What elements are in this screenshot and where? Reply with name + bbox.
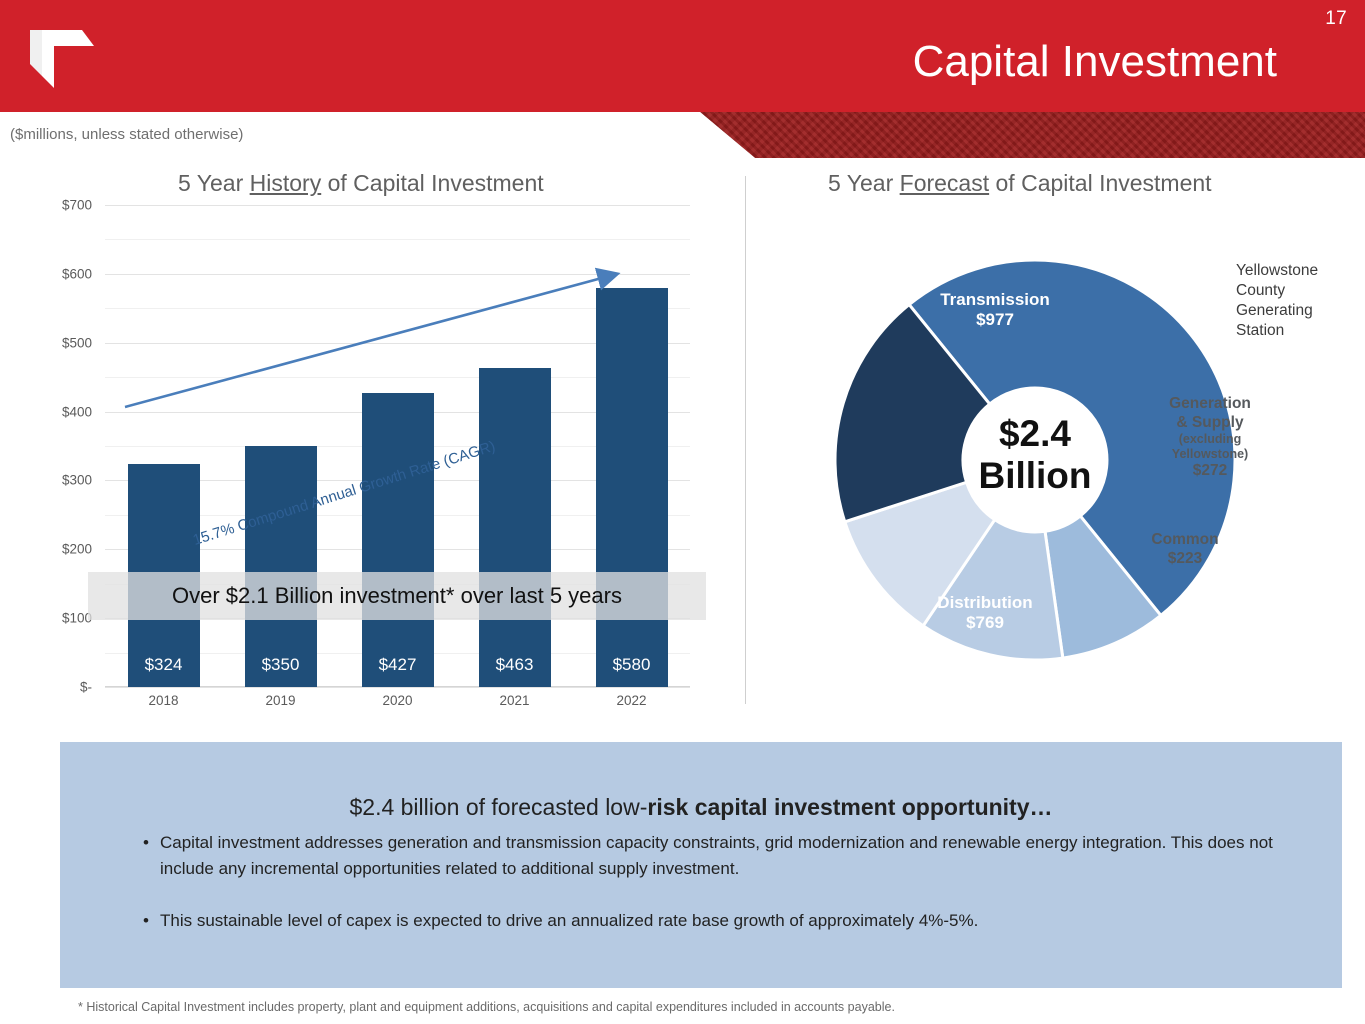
summary-heading: $2.4 billion of forecasted low-risk capi… bbox=[60, 794, 1342, 821]
history-title-underlined: History bbox=[250, 170, 322, 196]
x-axis-tick: 2019 bbox=[245, 693, 317, 708]
generation-sub: (excluding Yellowstone) bbox=[1145, 432, 1275, 462]
yellowstone-line1: Yellowstone bbox=[1236, 262, 1318, 279]
x-axis-tick: 2018 bbox=[128, 693, 200, 708]
bullet-text-2: This sustainable level of capex is expec… bbox=[160, 908, 1322, 934]
donut-label-common: Common $223 bbox=[1125, 531, 1245, 568]
y-axis-tick: $500 bbox=[32, 335, 92, 350]
bar bbox=[362, 393, 434, 687]
forecast-chart-title: 5 Year Forecast of Capital Investment bbox=[828, 170, 1212, 197]
summary-bullet-1: • Capital investment addresses generatio… bbox=[132, 830, 1322, 882]
yellowstone-line2: County bbox=[1236, 282, 1285, 299]
company-logo-icon bbox=[24, 24, 96, 94]
panel-divider bbox=[745, 176, 746, 704]
y-axis-tick: $600 bbox=[32, 266, 92, 281]
gridline bbox=[105, 274, 690, 275]
bar-value-label: $350 bbox=[245, 655, 317, 675]
donut-label-generation-supply: Generation & Supply (excluding Yellowsto… bbox=[1145, 395, 1275, 481]
y-axis-tick: $- bbox=[32, 680, 92, 695]
units-note: ($millions, unless stated otherwise) bbox=[10, 126, 243, 143]
bar bbox=[245, 446, 317, 687]
summary-heading-plain: $2.4 billion of forecasted low- bbox=[349, 794, 647, 820]
bar-value-label: $580 bbox=[596, 655, 668, 675]
history-callout-text: Over $2.1 Billion investment* over last … bbox=[172, 583, 622, 609]
bullet-text-1: Capital investment addresses generation … bbox=[160, 830, 1322, 882]
common-value: $223 bbox=[1125, 550, 1245, 569]
gridline bbox=[105, 239, 690, 240]
slide-header: Capital Investment 17 bbox=[0, 0, 1365, 112]
donut-label-yellowstone: Yellowstone County Generating Station bbox=[1236, 261, 1365, 341]
bullet-marker-1: • bbox=[132, 830, 160, 882]
donut-center-amount: $2.4 bbox=[945, 413, 1125, 455]
y-axis-tick: $400 bbox=[32, 404, 92, 419]
history-title-suffix: of Capital Investment bbox=[321, 170, 543, 196]
distribution-name: Distribution bbox=[880, 593, 1090, 613]
y-axis-tick: $200 bbox=[32, 542, 92, 557]
bullet-marker-2: • bbox=[132, 908, 160, 934]
donut-center-unit: Billion bbox=[945, 455, 1125, 497]
history-chart-title: 5 Year History of Capital Investment bbox=[178, 170, 544, 197]
bar-value-label: $324 bbox=[128, 655, 200, 675]
y-axis-tick: $700 bbox=[32, 198, 92, 213]
gridline bbox=[105, 205, 690, 206]
bar-value-label: $427 bbox=[362, 655, 434, 675]
footnote: * Historical Capital Investment includes… bbox=[78, 1000, 895, 1014]
x-axis-tick: 2022 bbox=[596, 693, 668, 708]
history-bar-chart: $700$600$500$400$300$200$100$- $3242018$… bbox=[0, 205, 730, 725]
yellowstone-line4: Station bbox=[1236, 322, 1284, 339]
forecast-title-prefix: 5 Year bbox=[828, 170, 900, 196]
x-axis-tick: 2020 bbox=[362, 693, 434, 708]
donut-label-transmission: Transmission $977 bbox=[890, 290, 1100, 331]
bar bbox=[479, 368, 551, 687]
history-callout-box: Over $2.1 Billion investment* over last … bbox=[88, 572, 706, 620]
summary-heading-bold: risk capital investment opportunity… bbox=[647, 794, 1052, 820]
forecast-donut-chart: $2.4 Billion Transmission $977 Distribut… bbox=[770, 195, 1365, 725]
summary-bullet-2: • This sustainable level of capex is exp… bbox=[132, 908, 1322, 934]
gridline bbox=[105, 687, 690, 688]
summary-box: $2.4 billion of forecasted low-risk capi… bbox=[60, 742, 1342, 988]
bar-value-label: $463 bbox=[479, 655, 551, 675]
generation-value: $272 bbox=[1145, 462, 1275, 481]
y-axis-tick: $300 bbox=[32, 473, 92, 488]
y-axis-labels: $700$600$500$400$300$200$100$- bbox=[30, 205, 92, 687]
transmission-name: Transmission bbox=[890, 290, 1100, 310]
donut-label-distribution: Distribution $769 bbox=[880, 593, 1090, 634]
generation-line2: & Supply bbox=[1145, 414, 1275, 433]
page-number: 17 bbox=[1325, 8, 1347, 30]
yellowstone-line3: Generating bbox=[1236, 302, 1313, 319]
forecast-title-suffix: of Capital Investment bbox=[989, 170, 1211, 196]
page-title: Capital Investment bbox=[913, 36, 1277, 88]
x-axis-tick: 2021 bbox=[479, 693, 551, 708]
forecast-title-underlined: Forecast bbox=[900, 170, 989, 196]
history-title-prefix: 5 Year bbox=[178, 170, 250, 196]
y-axis-tick: $100 bbox=[32, 611, 92, 626]
transmission-value: $977 bbox=[890, 310, 1100, 330]
common-name: Common bbox=[1125, 531, 1245, 550]
distribution-value: $769 bbox=[880, 613, 1090, 633]
bar bbox=[596, 288, 668, 687]
generation-line1: Generation bbox=[1145, 395, 1275, 414]
